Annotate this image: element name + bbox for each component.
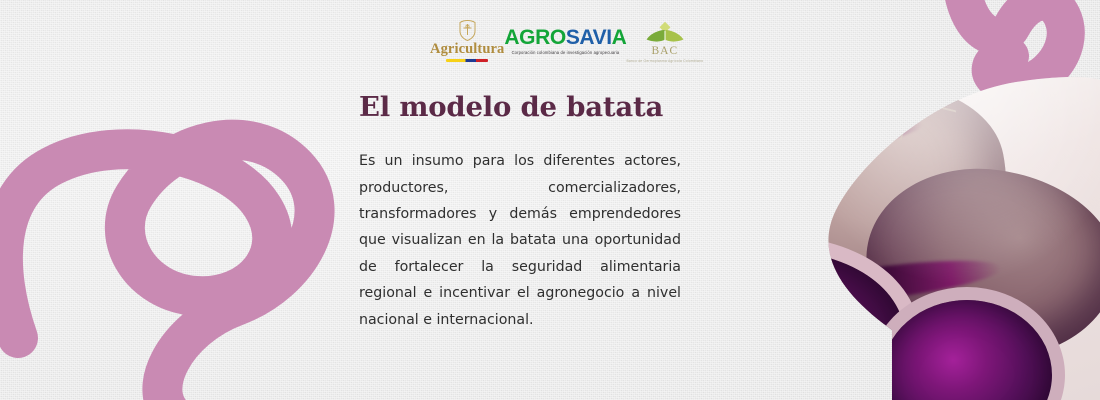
body-paragraph: Es un insumo para los diferentes actores…	[359, 148, 681, 333]
logo-agricultura: Agricultura	[430, 20, 504, 62]
logo-agrosavia-word-agro: AGRO	[504, 26, 565, 49]
colombia-shield-icon	[459, 20, 476, 41]
logo-agrosavia-word-a: A	[612, 26, 627, 49]
open-book-leaf-icon	[644, 19, 686, 45]
content-block: El modelo de batata Es un insumo para lo…	[359, 92, 681, 333]
photo-highlight	[686, 0, 1100, 400]
logo-agrosavia: AGROSAVIA Corporación colombiana de inve…	[504, 27, 626, 55]
logo-bac: BAC Banco de Germoplasma Agrícola Colomb…	[626, 19, 703, 63]
page-title: El modelo de batata	[359, 92, 681, 122]
logo-agricultura-word: Agricultura	[430, 42, 504, 57]
logo-agrosavia-word-savi: SAVI	[566, 26, 612, 49]
banner-root: Agricultura AGROSAVIA Corporación colomb…	[0, 0, 1100, 400]
logo-agrosavia-wordmark: AGROSAVIA	[504, 27, 626, 48]
photo-container	[686, 0, 1100, 400]
photo-blob-mask	[686, 0, 1100, 400]
colombia-flag-bar-icon	[446, 59, 488, 62]
logo-bac-tagline: Banco de Germoplasma Agrícola Colombiano	[626, 59, 703, 63]
logo-bac-word: BAC	[652, 46, 679, 58]
logo-agrosavia-tagline: Corporación colombiana de investigación …	[512, 50, 620, 55]
purple-sweet-potato-photo	[686, 0, 1100, 400]
logo-strip: Agricultura AGROSAVIA Corporación colomb…	[430, 12, 690, 70]
